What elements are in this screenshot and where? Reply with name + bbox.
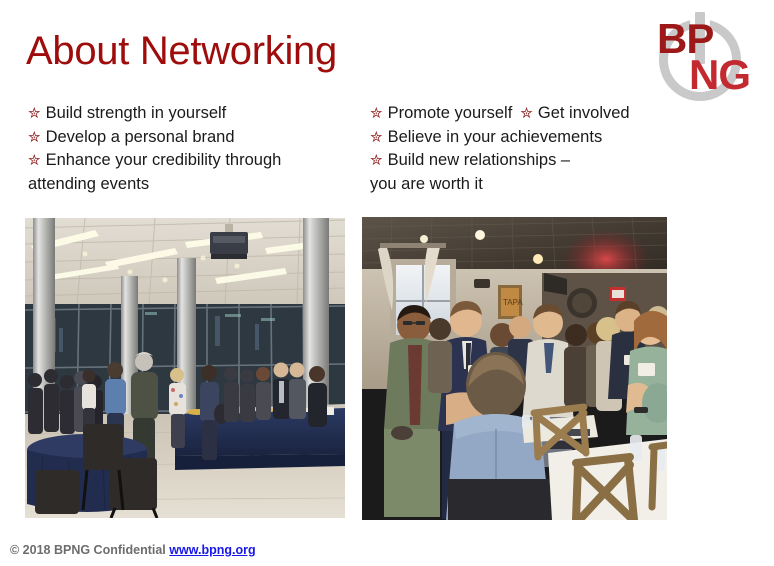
star-bullet-icon: ✮ xyxy=(370,127,383,150)
photo-restaurant-mixer-graphic: TAPA xyxy=(362,217,667,520)
footer-website-link[interactable]: www.bpng.org xyxy=(169,543,255,557)
logo-text-ng: NG xyxy=(689,54,750,96)
star-bullet-icon: ✮ xyxy=(28,103,41,126)
list-item: ✮Enhance your credibility through xyxy=(28,149,358,173)
list-item: ✮Build strength in yourself xyxy=(28,102,358,126)
list-item-continuation: you are worth it xyxy=(370,173,670,196)
bullet-list-left: ✮Build strength in yourself ✮Develop a p… xyxy=(28,102,358,195)
page-title: About Networking xyxy=(26,28,337,74)
list-item-continuation: attending events xyxy=(28,173,358,196)
list-item-label: Build strength in yourself xyxy=(46,104,227,122)
svg-text:TAPA: TAPA xyxy=(503,298,523,307)
list-item: ✮Believe in your achievements xyxy=(370,126,670,150)
list-item-label: Develop a personal brand xyxy=(46,128,235,146)
photo-atrium-reception xyxy=(25,218,345,518)
list-item-label: Believe in your achievements xyxy=(388,128,603,146)
star-bullet-icon: ✮ xyxy=(370,103,383,126)
star-bullet-icon: ✮ xyxy=(28,150,41,173)
list-item-label: Build new relationships – xyxy=(388,151,571,169)
photo-atrium-reception-graphic xyxy=(25,218,345,518)
bpng-logo: BP NG xyxy=(645,6,769,106)
list-item: ✮Develop a personal brand xyxy=(28,126,358,150)
photo-restaurant-mixer: TAPA xyxy=(362,217,667,520)
list-item: ✮Build new relationships – xyxy=(370,149,670,173)
slide: About Networking BP NG ✮Build strength i… xyxy=(0,0,774,566)
list-item-label: Enhance your credibility through xyxy=(46,151,282,169)
footer: © 2018 BPNG Confidential www.bpng.org xyxy=(10,543,256,557)
list-item-label: Promote yourself xyxy=(388,104,513,122)
star-bullet-icon: ✮ xyxy=(28,127,41,150)
star-bullet-icon: ✮ xyxy=(370,150,383,173)
footer-copyright: © 2018 BPNG Confidential xyxy=(10,543,166,557)
list-item: ✮Promote yourself✮Get involved xyxy=(370,102,670,126)
star-bullet-icon: ✮ xyxy=(520,103,533,126)
bullet-list-right: ✮Promote yourself✮Get involved ✮Believe … xyxy=(370,102,670,195)
list-item-label-secondary: Get involved xyxy=(538,104,630,122)
